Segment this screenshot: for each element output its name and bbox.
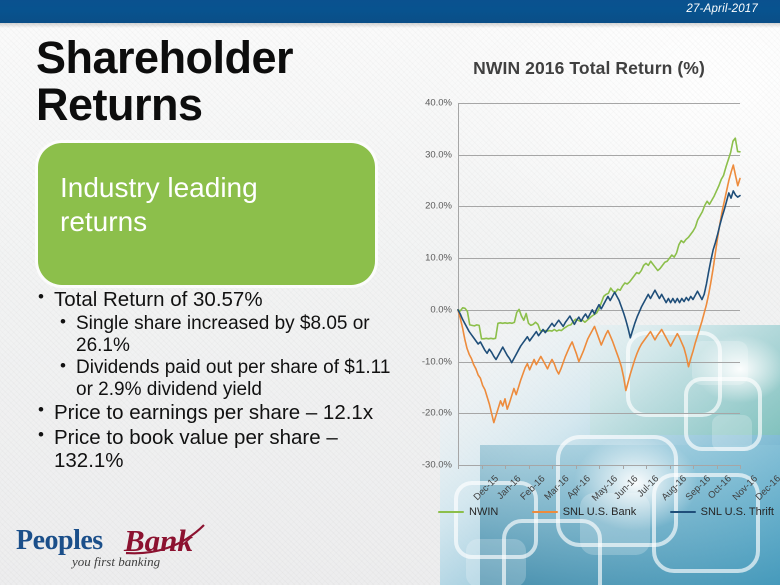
chart-plot-area: -30.0%-20.0%-10.0%0.0%10.0%20.0%30.0%40.… xyxy=(458,103,740,465)
peoples-bank-logo: Peoples Bank you first banking xyxy=(14,519,224,571)
sub-bullet-item: Single share increased by $8.05 or 26.1% xyxy=(58,313,404,356)
x-axis-tick xyxy=(717,465,718,469)
x-axis-tick xyxy=(552,465,553,469)
series-line xyxy=(458,138,740,339)
x-axis-tick-label: Jul-16 xyxy=(635,473,661,499)
legend-swatch xyxy=(438,511,464,514)
sub-bullet-item: Dividends paid out per share of $1.11 or… xyxy=(58,357,404,400)
y-axis-tick-label: 10.0% xyxy=(425,253,452,264)
slide: 27-April-2017 Shareholder Returns Indust… xyxy=(0,0,780,585)
x-axis-tick xyxy=(505,465,506,469)
x-axis-tick xyxy=(740,465,741,469)
bullet-item: Price to book value per share – 132.1% xyxy=(36,426,404,472)
legend-item[interactable]: SNL U.S. Bank xyxy=(532,506,637,518)
x-axis-tick-label: Nov-16 xyxy=(730,473,759,502)
y-axis-tick-label: -20.0% xyxy=(422,408,452,419)
legend-item[interactable]: NWIN xyxy=(438,506,498,518)
y-axis-tick-label: 40.0% xyxy=(425,98,452,109)
legend-swatch xyxy=(670,511,696,514)
bullet-list: Total Return of 30.57%Single share incre… xyxy=(36,288,404,475)
svg-text:Peoples: Peoples xyxy=(16,525,103,556)
x-axis-tick xyxy=(693,465,694,469)
y-axis-tick-label: 20.0% xyxy=(425,201,452,212)
legend-swatch xyxy=(532,511,558,514)
x-axis-tick xyxy=(646,465,647,469)
header-bar xyxy=(0,0,780,23)
sub-bullet-list: Single share increased by $8.05 or 26.1%… xyxy=(58,313,404,400)
x-axis-tick-label: Feb-16 xyxy=(518,473,547,502)
x-axis-tick-label: Dec-15 xyxy=(472,473,501,502)
legend-label: SNL U.S. Bank xyxy=(563,506,637,518)
x-axis-tick-label: Sep-16 xyxy=(683,473,712,502)
y-axis-tick-label: 0.0% xyxy=(430,304,452,315)
chart-legend: NWINSNL U.S. BankSNL U.S. Thrift xyxy=(438,506,774,518)
bullet-item: Price to earnings per share – 12.1x xyxy=(36,401,404,424)
chart: NWIN 2016 Total Return (%) -30.0%-20.0%-… xyxy=(404,58,774,528)
chart-series xyxy=(458,103,740,465)
x-axis-tick-label: May-16 xyxy=(589,473,619,503)
x-axis-tick-label: Apr-16 xyxy=(565,473,593,501)
series-line xyxy=(458,165,740,423)
x-axis-tick xyxy=(482,465,483,469)
legend-label: SNL U.S. Thrift xyxy=(701,506,774,518)
x-axis-tick xyxy=(599,465,600,469)
x-axis-tick xyxy=(529,465,530,469)
y-axis-tick-label: 30.0% xyxy=(425,149,452,160)
callout-box: Industry leading returns xyxy=(38,143,375,285)
x-axis-tick-label: Aug-16 xyxy=(660,473,689,502)
legend-label: NWIN xyxy=(469,506,498,518)
header-date: 27-April-2017 xyxy=(686,3,758,15)
chart-title: NWIN 2016 Total Return (%) xyxy=(404,58,774,79)
svg-text:you first banking: you first banking xyxy=(70,554,161,569)
x-axis-tick xyxy=(458,465,459,469)
page-title: Shareholder Returns xyxy=(36,34,396,129)
bullet-item: Total Return of 30.57% xyxy=(36,288,404,311)
x-axis-tick xyxy=(576,465,577,469)
x-axis-tick-label: Jan-16 xyxy=(495,473,523,501)
x-axis-tick xyxy=(670,465,671,469)
x-axis-tick xyxy=(623,465,624,469)
callout-text: Industry leading returns xyxy=(60,171,352,239)
y-axis-tick-label: -10.0% xyxy=(422,356,452,367)
header-shadow xyxy=(0,23,780,28)
x-axis-tick-label: Mar-16 xyxy=(542,473,571,502)
y-axis-tick-label: -30.0% xyxy=(422,460,452,471)
legend-item[interactable]: SNL U.S. Thrift xyxy=(670,506,774,518)
bullet-root: Total Return of 30.57%Single share incre… xyxy=(36,288,404,473)
